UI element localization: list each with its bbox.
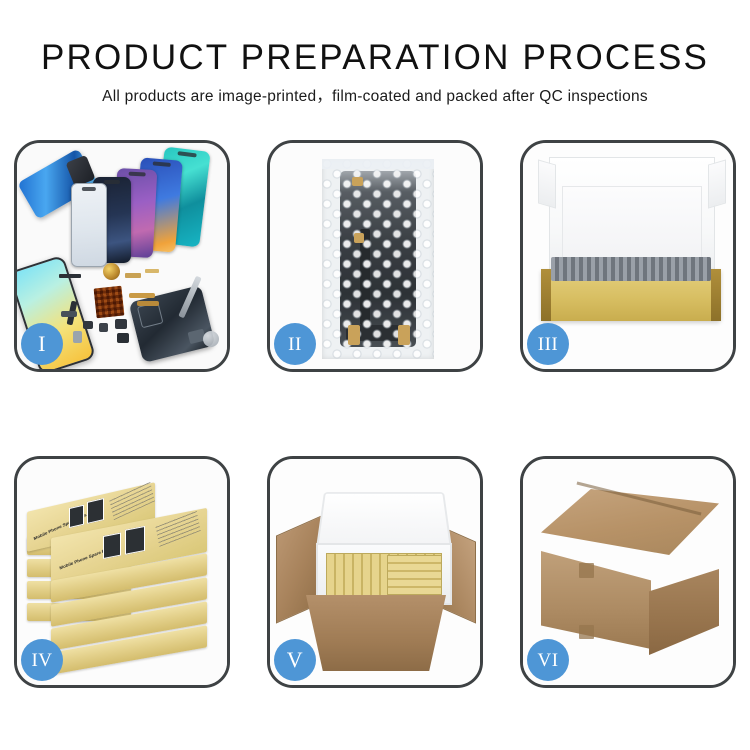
gold-connector-tab <box>352 177 363 186</box>
gold-connector-tab <box>398 325 410 345</box>
small-part-bar <box>59 274 81 278</box>
chip-part-icon <box>115 319 127 329</box>
step-badge-5: V <box>274 639 316 681</box>
bag-seal-strip <box>322 159 434 169</box>
process-step-1[interactable]: I <box>14 140 230 372</box>
bubble-wrap-texture <box>322 159 434 359</box>
screws-icon <box>203 331 219 347</box>
process-step-2[interactable]: II <box>267 140 483 372</box>
yellow-boxes-row-2 <box>387 555 442 595</box>
process-step-grid: I II <box>14 140 736 688</box>
chip-part-icon <box>99 323 108 332</box>
bubble-wrap-bag <box>322 159 434 359</box>
gold-connector-tab <box>354 233 364 243</box>
step-badge-1: I <box>21 323 63 365</box>
carton-body <box>306 595 446 671</box>
notch-icon <box>82 187 96 191</box>
carton-top-face <box>541 489 719 555</box>
header: PRODUCT PREPARATION PROCESS All products… <box>0 0 750 107</box>
page-subtitle: All products are image-printed，film-coat… <box>0 87 750 107</box>
flex-cable-icon <box>137 301 159 306</box>
phone-swatch <box>103 533 121 559</box>
small-part-bar <box>145 269 159 273</box>
page-title: PRODUCT PREPARATION PROCESS <box>0 38 750 78</box>
product-preparation-infographic: PRODUCT PREPARATION PROCESS All products… <box>0 0 750 750</box>
chip-part-icon <box>117 333 129 343</box>
chip-part-icon <box>83 321 93 329</box>
carton-tape-mark <box>579 563 594 578</box>
notch-icon <box>104 180 120 184</box>
step-badge-2: II <box>274 323 316 365</box>
carton-front-face <box>541 551 651 649</box>
notch-icon <box>177 151 197 157</box>
carton-tape-mark <box>579 625 594 639</box>
small-part-bar <box>125 273 141 278</box>
notch-icon <box>153 161 171 167</box>
yellow-box-base <box>541 269 721 321</box>
phone-glass-panel <box>71 183 107 267</box>
bubble-wrapped-units-in-box <box>551 257 711 281</box>
phone-swatch <box>125 526 145 555</box>
step-badge-3: III <box>527 323 569 365</box>
flex-cable-icon <box>129 293 155 298</box>
chip-part-icon <box>61 311 77 317</box>
gold-coil-part-icon <box>103 263 120 280</box>
gold-connector-tab <box>348 325 360 345</box>
process-step-6[interactable]: VI <box>520 456 736 688</box>
copper-grid-part-icon <box>94 286 125 319</box>
notch-icon <box>129 172 146 177</box>
process-step-3[interactable]: III <box>520 140 736 372</box>
box-spec-lines <box>109 481 155 520</box>
chip-part-icon <box>73 331 82 343</box>
phone-swatch <box>87 498 104 524</box>
step-badge-6: VI <box>527 639 569 681</box>
carton-side-face <box>649 569 719 655</box>
step-badge-4: IV <box>21 639 63 681</box>
box-spec-lines <box>155 510 200 547</box>
process-step-5[interactable]: V <box>267 456 483 688</box>
phone-swatch <box>69 505 84 528</box>
process-step-4[interactable]: Mobile Phone Spare Parts Mobile Phone Sp… <box>14 456 230 688</box>
